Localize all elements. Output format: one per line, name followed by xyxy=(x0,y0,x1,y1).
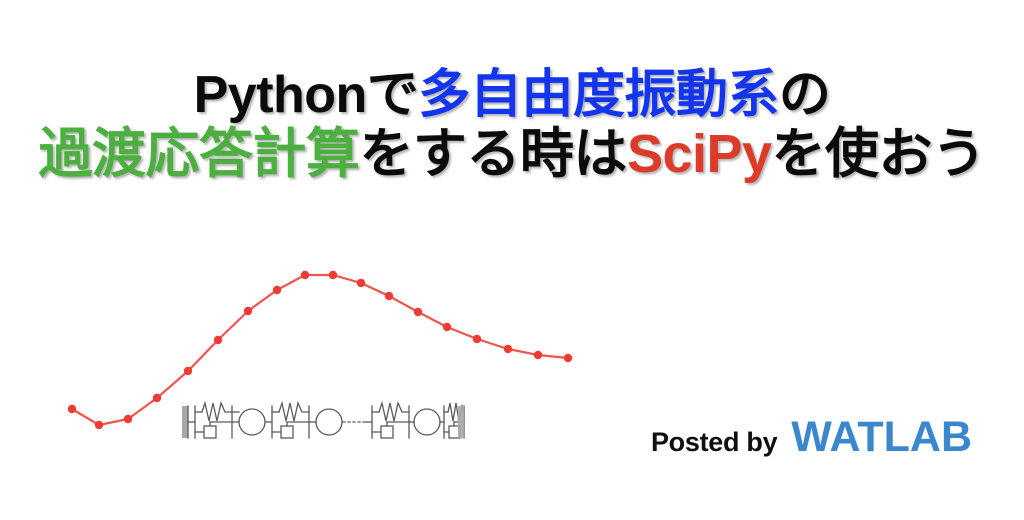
spring-damper-unit-2 xyxy=(265,403,316,438)
data-point-16 xyxy=(534,351,542,359)
data-point-17 xyxy=(564,354,572,362)
data-point-9 xyxy=(329,271,337,279)
title-seg-de: で xyxy=(367,66,419,124)
title-seg-no: の xyxy=(779,66,831,124)
mass-2 xyxy=(316,409,342,435)
title-seg-wotsukaou: を使おう xyxy=(772,124,986,184)
data-point-8 xyxy=(301,271,309,279)
title-seg-wosurutokiha: をする時は xyxy=(359,124,627,184)
title-line-2: 過渡応答計算をする時はSciPyを使おう xyxy=(0,126,1024,182)
data-point-1 xyxy=(95,421,103,429)
data-point-3 xyxy=(153,394,161,402)
title-seg-scipy: SciPy xyxy=(627,124,772,184)
mass-spring-damper-svg xyxy=(180,396,466,448)
data-point-15 xyxy=(504,345,512,353)
title-seg-python: Python xyxy=(194,66,367,124)
title-seg-transient-response: 過渡応答計算 xyxy=(38,124,359,184)
data-point-4 xyxy=(184,367,192,375)
title-seg-multi-dof: 多自由度振動系 xyxy=(418,66,779,124)
data-point-10 xyxy=(357,279,365,287)
page-title: Pythonで多自由度振動系の 過渡応答計算をする時はSciPyを使おう xyxy=(0,68,1024,182)
wall-right-hatch xyxy=(458,406,464,438)
brand-watlab: WATLAB xyxy=(791,413,972,462)
eyecatch-card: Pythonで多自由度振動系の 過渡応答計算をする時はSciPyを使おう xyxy=(0,0,1024,520)
spring-damper-unit-3 xyxy=(366,403,414,438)
data-point-6 xyxy=(244,307,252,315)
mass-1 xyxy=(239,409,265,435)
spring-damper-unit-1 xyxy=(195,403,239,438)
data-point-5 xyxy=(214,336,222,344)
data-point-13 xyxy=(443,323,451,331)
title-line-1: Pythonで多自由度振動系の xyxy=(0,68,1024,122)
data-point-2 xyxy=(124,415,132,423)
data-point-7 xyxy=(273,286,281,294)
data-point-0 xyxy=(68,405,76,413)
mass-spring-damper-diagram xyxy=(180,396,466,448)
data-point-12 xyxy=(414,308,422,316)
mass-3 xyxy=(414,409,440,435)
posted-by-label: Posted by xyxy=(651,427,777,458)
data-point-11 xyxy=(385,292,393,300)
credit-block: Posted by WATLAB xyxy=(651,413,972,462)
data-point-14 xyxy=(473,335,481,343)
wall-left-icon xyxy=(182,406,195,438)
